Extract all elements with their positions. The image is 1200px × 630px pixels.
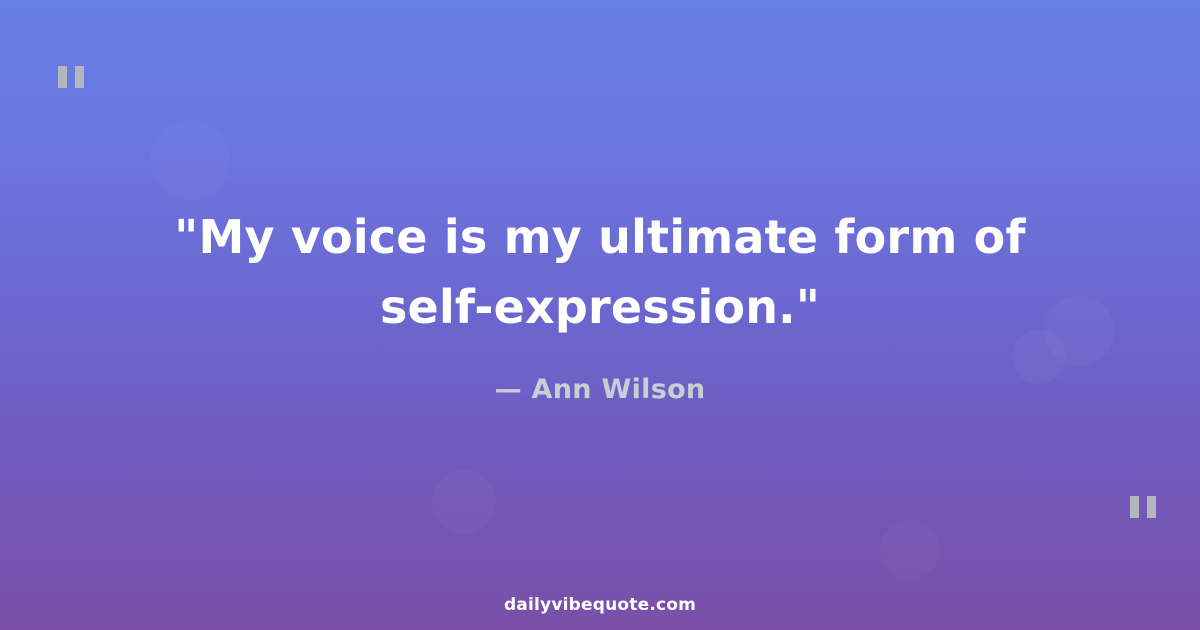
footer-site-name: dailyvibequote.com <box>0 595 1200 615</box>
quote-line-1: "My voice is my ultimate form of <box>174 210 1025 264</box>
quote-attribution: — Ann Wilson <box>495 374 706 405</box>
quote-content: "My voice is my ultimate form of self-ex… <box>0 0 1200 630</box>
quote-card: "My voice is my ultimate form of self-ex… <box>0 0 1200 630</box>
quote-line-2: self-expression." <box>380 280 820 334</box>
quote-text: "My voice is my ultimate form of self-ex… <box>130 202 1070 342</box>
